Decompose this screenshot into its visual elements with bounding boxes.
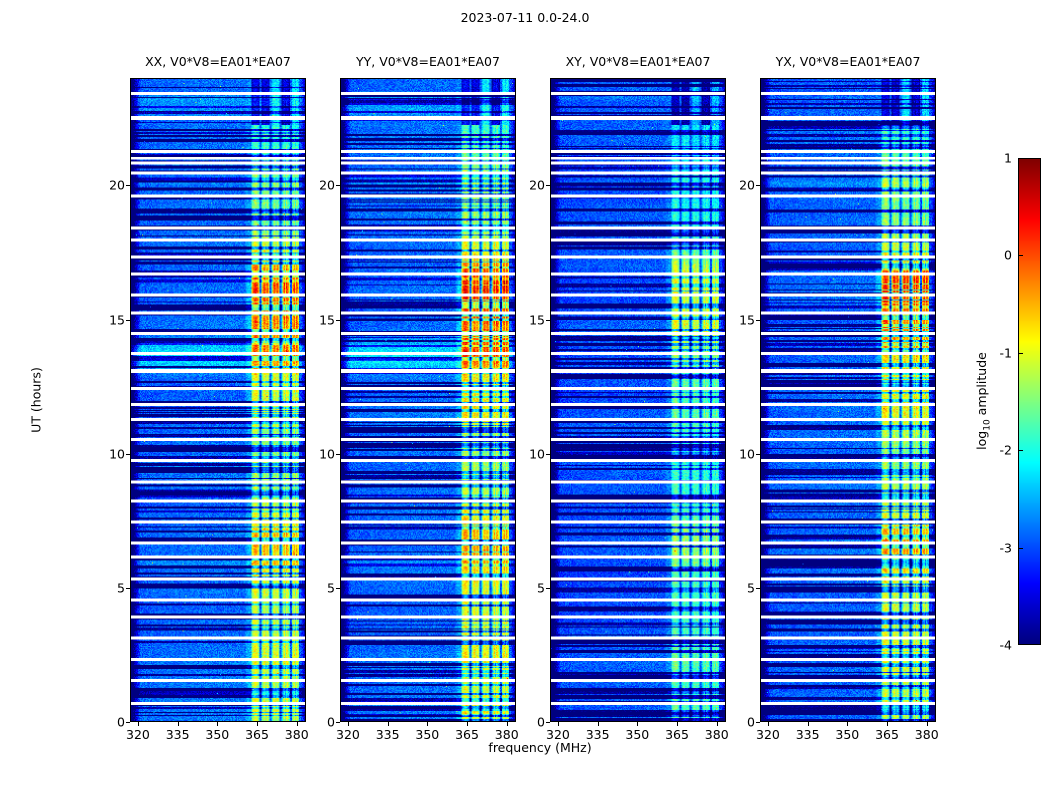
- x-tick-mark-yx-0: [768, 722, 769, 726]
- colorbar-label: log10 amplitude: [974, 352, 993, 450]
- y-tick-mark-yy-1: [336, 588, 340, 589]
- y-tick-label-yx-0: 0: [747, 715, 755, 730]
- x-tick-label-xx-2: 350: [205, 727, 229, 742]
- x-tick-label-yx-1: 335: [796, 727, 820, 742]
- colorbar-tick-mark-2: [1018, 450, 1023, 451]
- x-tick-label-xx-0: 320: [126, 727, 150, 742]
- y-tick-mark-yy-4: [336, 185, 340, 186]
- colorbar-tick-label-3: -1: [1000, 345, 1012, 360]
- y-tick-mark-yx-1: [756, 588, 760, 589]
- x-tick-mark-yx-1: [808, 722, 809, 726]
- x-tick-label-xy-3: 365: [665, 727, 689, 742]
- x-tick-label-xy-1: 335: [586, 727, 610, 742]
- waterfall-canvas-xx: [131, 79, 305, 721]
- x-tick-mark-yx-2: [847, 722, 848, 726]
- panel-xy: XY, V0*V8=EA01*EA07051015203203353503653…: [550, 78, 726, 722]
- waterfall-image-xy: [550, 78, 726, 722]
- y-tick-label-xx-0: 0: [117, 715, 125, 730]
- x-tick-label-yy-3: 365: [455, 727, 479, 742]
- panel-xx: XX, V0*V8=EA01*EA07051015203203353503653…: [130, 78, 306, 722]
- waterfall-image-xx: [130, 78, 306, 722]
- y-tick-mark-xy-2: [546, 454, 550, 455]
- x-tick-mark-xx-4: [297, 722, 298, 726]
- colorbar-tick-mark-1: [1018, 548, 1023, 549]
- waterfall-image-yx: [760, 78, 936, 722]
- colorbar-gradient: [1019, 159, 1040, 644]
- y-axis-label: UT (hours): [29, 367, 44, 433]
- figure-canvas: 2023-07-11 0.0-24.0 UT (hours) frequency…: [0, 0, 1050, 800]
- y-tick-mark-xx-4: [126, 185, 130, 186]
- colorbar-tick-label-1: -3: [1000, 540, 1012, 555]
- waterfall-canvas-yx: [761, 79, 935, 721]
- y-tick-mark-xx-1: [126, 588, 130, 589]
- y-tick-label-xx-1: 5: [117, 580, 125, 595]
- y-tick-mark-yx-4: [756, 185, 760, 186]
- x-tick-label-yx-2: 350: [835, 727, 859, 742]
- y-tick-label-yx-2: 10: [739, 446, 755, 461]
- x-tick-label-xx-3: 365: [245, 727, 269, 742]
- y-tick-mark-xy-1: [546, 588, 550, 589]
- x-axis-label: frequency (MHz): [488, 740, 591, 755]
- y-tick-mark-xy-0: [546, 722, 550, 723]
- x-tick-label-yy-4: 380: [495, 727, 519, 742]
- y-tick-mark-xy-4: [546, 185, 550, 186]
- panel-title-yx: YX, V0*V8=EA01*EA07: [720, 54, 976, 69]
- y-tick-label-yy-2: 10: [319, 446, 335, 461]
- colorbar-tick-label-2: -2: [1000, 443, 1012, 458]
- x-tick-label-yy-2: 350: [415, 727, 439, 742]
- x-tick-mark-yy-3: [467, 722, 468, 726]
- y-tick-label-yy-1: 5: [327, 580, 335, 595]
- colorbar-tick-label-4: 0: [1004, 248, 1012, 263]
- y-tick-mark-xx-0: [126, 722, 130, 723]
- x-tick-mark-xy-0: [558, 722, 559, 726]
- colorbar: [1018, 158, 1041, 645]
- panel-yx: YX, V0*V8=EA01*EA07051015203203353503653…: [760, 78, 936, 722]
- y-tick-label-xx-3: 15: [109, 312, 125, 327]
- x-tick-mark-yx-3: [887, 722, 888, 726]
- x-tick-mark-xx-2: [217, 722, 218, 726]
- x-tick-label-xy-4: 380: [705, 727, 729, 742]
- x-tick-label-yy-1: 335: [376, 727, 400, 742]
- x-tick-label-xy-0: 320: [546, 727, 570, 742]
- x-tick-mark-yy-0: [348, 722, 349, 726]
- x-tick-label-xx-1: 335: [166, 727, 190, 742]
- x-tick-label-yx-4: 380: [915, 727, 939, 742]
- x-tick-mark-yy-4: [507, 722, 508, 726]
- y-tick-label-yx-4: 20: [739, 178, 755, 193]
- x-tick-mark-xx-0: [138, 722, 139, 726]
- y-tick-mark-yx-0: [756, 722, 760, 723]
- x-tick-label-yy-0: 320: [336, 727, 360, 742]
- y-tick-label-xx-4: 20: [109, 178, 125, 193]
- x-tick-mark-xy-1: [598, 722, 599, 726]
- y-tick-mark-xy-3: [546, 320, 550, 321]
- y-tick-label-yx-3: 15: [739, 312, 755, 327]
- x-tick-mark-yy-2: [427, 722, 428, 726]
- colorbar-tick-mark-4: [1018, 255, 1023, 256]
- colorbar-tick-mark-3: [1018, 353, 1023, 354]
- colorbar-tick-label-5: 1: [1004, 151, 1012, 166]
- y-tick-mark-yy-0: [336, 722, 340, 723]
- y-tick-label-yy-4: 20: [319, 178, 335, 193]
- y-tick-label-xy-0: 0: [537, 715, 545, 730]
- x-tick-mark-xx-1: [178, 722, 179, 726]
- waterfall-canvas-xy: [551, 79, 725, 721]
- y-tick-mark-xx-2: [126, 454, 130, 455]
- x-tick-label-xx-4: 380: [285, 727, 309, 742]
- colorbar-label-text: log10 amplitude: [974, 352, 989, 450]
- y-tick-label-xy-2: 10: [529, 446, 545, 461]
- colorbar-tick-label-0: -4: [1000, 638, 1012, 653]
- x-tick-mark-xy-3: [677, 722, 678, 726]
- y-tick-label-yy-3: 15: [319, 312, 335, 327]
- figure-suptitle: 2023-07-11 0.0-24.0: [0, 10, 1050, 25]
- x-tick-mark-xy-4: [717, 722, 718, 726]
- y-tick-mark-yy-2: [336, 454, 340, 455]
- y-tick-mark-yx-3: [756, 320, 760, 321]
- y-tick-label-yy-0: 0: [327, 715, 335, 730]
- x-tick-mark-yx-4: [927, 722, 928, 726]
- y-tick-mark-yy-3: [336, 320, 340, 321]
- x-tick-label-xy-2: 350: [625, 727, 649, 742]
- x-tick-mark-yy-1: [388, 722, 389, 726]
- y-tick-label-xy-4: 20: [529, 178, 545, 193]
- panel-yy: YY, V0*V8=EA01*EA07051015203203353503653…: [340, 78, 516, 722]
- x-tick-mark-xy-2: [637, 722, 638, 726]
- x-tick-label-yx-0: 320: [756, 727, 780, 742]
- x-tick-label-yx-3: 365: [875, 727, 899, 742]
- y-tick-label-yx-1: 5: [747, 580, 755, 595]
- x-tick-mark-xx-3: [257, 722, 258, 726]
- y-tick-label-xy-1: 5: [537, 580, 545, 595]
- waterfall-canvas-yy: [341, 79, 515, 721]
- waterfall-image-yy: [340, 78, 516, 722]
- y-tick-mark-yx-2: [756, 454, 760, 455]
- y-tick-mark-xx-3: [126, 320, 130, 321]
- y-tick-label-xy-3: 15: [529, 312, 545, 327]
- y-tick-label-xx-2: 10: [109, 446, 125, 461]
